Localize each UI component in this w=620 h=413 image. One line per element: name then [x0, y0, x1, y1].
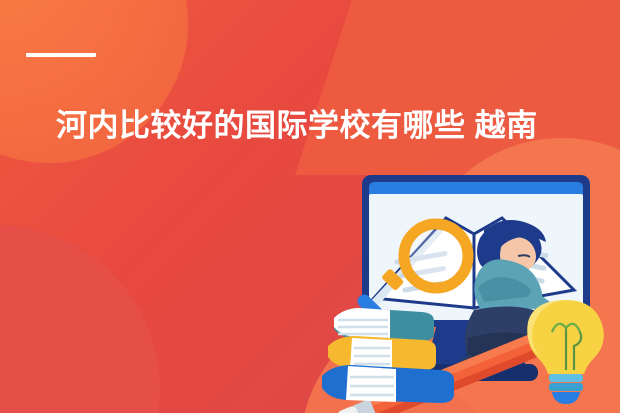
accent-rule: [26, 53, 96, 57]
online-learning-illustration: [318, 168, 620, 413]
promo-banner: 河内比较好的国际学校有哪些 越南: [0, 0, 620, 413]
page-title: 河内比较好的国际学校有哪些 越南: [56, 105, 586, 147]
light-bulb-icon: [527, 300, 604, 404]
